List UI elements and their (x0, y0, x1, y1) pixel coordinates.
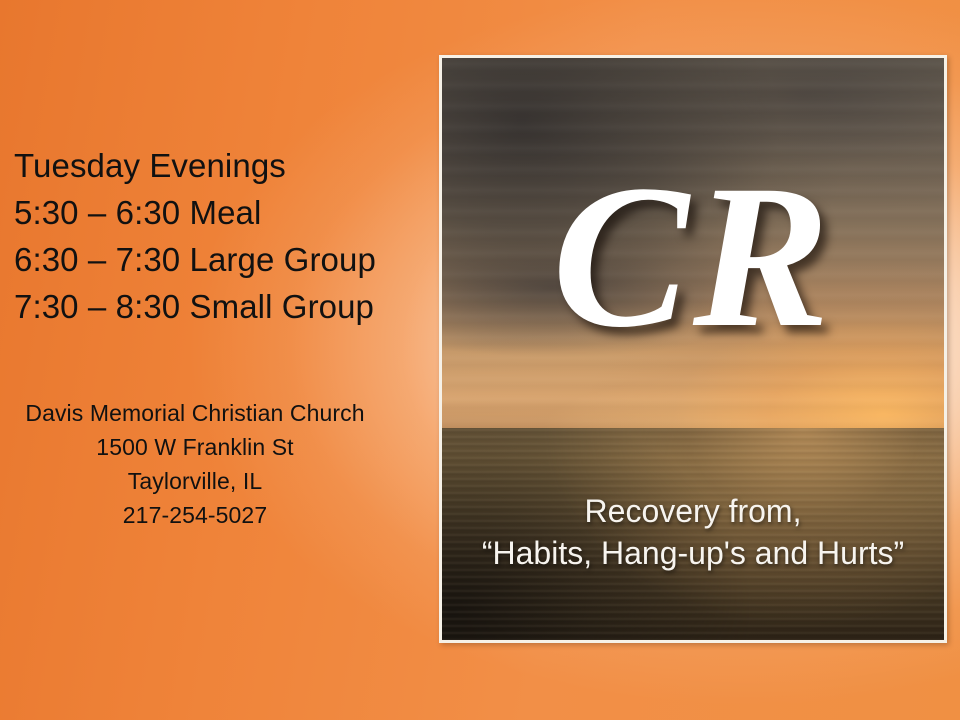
sunset-photo: CR Recovery from, “Habits, Hang-up's and… (442, 58, 944, 640)
address-street: 1500 W Franklin St (0, 430, 390, 464)
schedule-line-meal: 5:30 – 6:30 Meal (14, 189, 434, 236)
photo-caption: Recovery from, “Habits, Hang-up's and Hu… (442, 490, 944, 574)
schedule-line-small-group: 7:30 – 8:30 Small Group (14, 283, 434, 330)
address-phone: 217-254-5027 (0, 498, 390, 532)
caption-line-1: Recovery from, (442, 490, 944, 532)
address-block: Davis Memorial Christian Church 1500 W F… (0, 396, 390, 532)
schedule-line-large-group: 6:30 – 7:30 Large Group (14, 236, 434, 283)
address-city-state: Taylorville, IL (0, 464, 390, 498)
slide-canvas: Tuesday Evenings 5:30 – 6:30 Meal 6:30 –… (0, 0, 960, 720)
photo-frame: CR Recovery from, “Habits, Hang-up's and… (439, 55, 947, 643)
schedule-block: Tuesday Evenings 5:30 – 6:30 Meal 6:30 –… (14, 142, 434, 330)
schedule-line-heading: Tuesday Evenings (14, 142, 434, 189)
caption-line-2: “Habits, Hang-up's and Hurts” (442, 532, 944, 574)
address-organization: Davis Memorial Christian Church (0, 396, 390, 430)
left-text-column: Tuesday Evenings 5:30 – 6:30 Meal 6:30 –… (0, 0, 440, 720)
cr-monogram: CR (442, 154, 944, 359)
